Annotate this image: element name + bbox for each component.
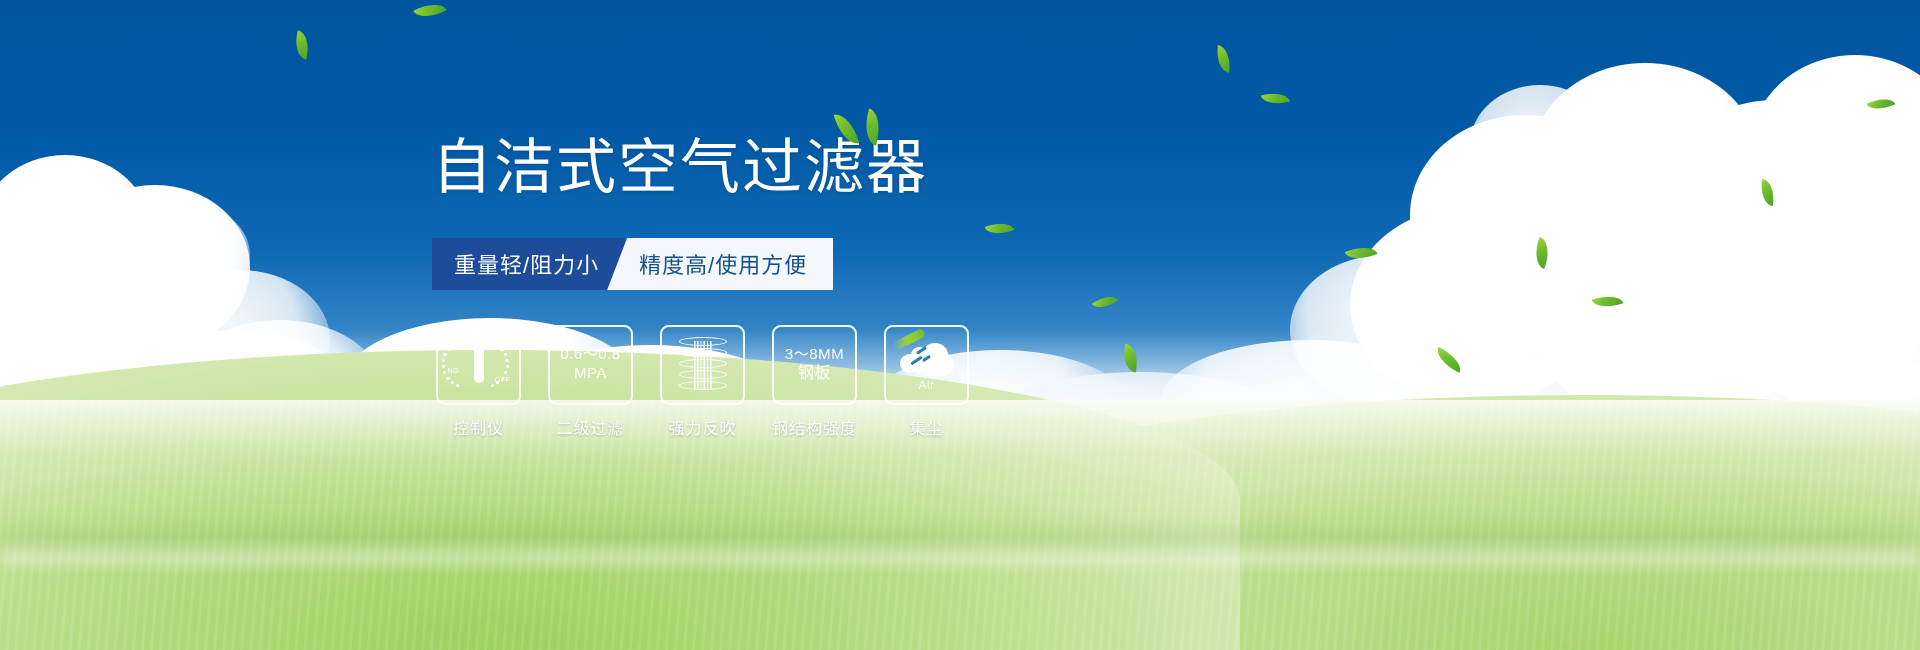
air-cloud-icon: Air (898, 340, 956, 390)
feature-label: 钢结构强度 (772, 415, 857, 439)
dial-needle-icon (474, 347, 484, 383)
feature-icon-box: Air (884, 325, 969, 405)
feature-icon-box: NO OFF (436, 325, 521, 405)
feature-item-pressure[interactable]: 0.6～0.8 MPA 二级过滤 (548, 325, 633, 439)
banner-content: 自洁式空气过滤器 重量轻/阻力小 精度高/使用方便 (0, 0, 1920, 650)
pressure-unit: MPA (560, 365, 620, 384)
feature-label: 集尘 (884, 415, 969, 439)
steel-thickness: 3～8MM (785, 346, 844, 365)
feature-label: 控制仪 (436, 415, 521, 439)
air-caption: Air (898, 378, 956, 392)
page-title: 自洁式空气过滤器 (432, 138, 928, 198)
coil-filter-icon (679, 337, 727, 393)
feature-list: NO OFF 控制仪 0.6～0.8 MPA 二级过滤 (436, 325, 969, 439)
feature-item-steel[interactable]: 3～8MM 钢板 钢结构强度 (772, 325, 857, 439)
steel-plate-text-icon: 3～8MM 钢板 (785, 346, 844, 385)
dial-off-label: OFF (495, 377, 511, 384)
feature-item-dust[interactable]: Air 集尘 (884, 325, 969, 439)
feature-icon-box: 0.6～0.8 MPA (548, 325, 633, 405)
feature-item-controller[interactable]: NO OFF 控制仪 (436, 325, 521, 439)
dial-on-label: NO (448, 368, 460, 375)
banner: 自洁式空气过滤器 重量轻/阻力小 精度高/使用方便 (0, 0, 1920, 650)
subtitle-tag-row: 重量轻/阻力小 精度高/使用方便 (432, 238, 833, 290)
steel-material: 钢板 (785, 364, 844, 384)
feature-icon-box: 3～8MM 钢板 (772, 325, 857, 405)
pressure-text-icon: 0.6～0.8 MPA (560, 346, 620, 384)
feature-label: 强力反吹 (660, 415, 745, 439)
feature-item-backblow[interactable]: 强力反吹 (660, 325, 745, 439)
subtitle-tag-secondary[interactable]: 精度高/使用方便 (607, 238, 833, 290)
dial-switch-icon: NO OFF (449, 337, 509, 393)
feature-icon-box (660, 325, 745, 405)
subtitle-tag-primary[interactable]: 重量轻/阻力小 (432, 238, 625, 290)
pressure-value: 0.6～0.8 (560, 346, 620, 365)
feature-label: 二级过滤 (548, 415, 633, 439)
